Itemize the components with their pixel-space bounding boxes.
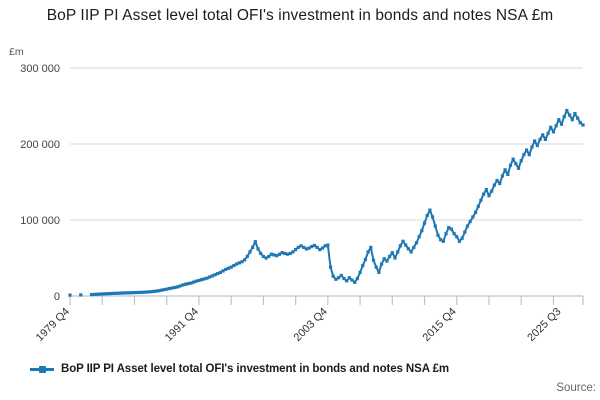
- x-axis-tick-label: 2015 Q4: [421, 306, 459, 344]
- chart-container: BoP IIP PI Asset level total OFI's inves…: [0, 0, 600, 400]
- x-axis-tick-label: 1979 Q4: [34, 306, 72, 344]
- y-axis-tick-label: 0: [54, 291, 60, 303]
- legend-label: BoP IIP PI Asset level total OFI's inves…: [61, 363, 449, 375]
- x-axis-tick-labels: 1979 Q41991 Q42003 Q42015 Q42025 Q3: [34, 306, 564, 344]
- chart-legend: BoP IIP PI Asset level total OFI's inves…: [30, 363, 449, 375]
- source-note: Source:: [556, 382, 596, 394]
- gridlines: [70, 68, 583, 220]
- x-axis-tick-label: 1991 Q4: [163, 306, 201, 344]
- x-axis-tick-label: 2025 Q3: [525, 306, 563, 344]
- x-axis: [70, 296, 583, 305]
- y-axis-tick-label: 200 000: [20, 139, 60, 151]
- y-axis-tick-labels: 0100 000200 000300 000: [20, 63, 60, 303]
- y-axis-tick-label: 100 000: [20, 215, 60, 227]
- legend-line-marker-icon: [30, 363, 54, 375]
- x-axis-tick-label: 2003 Q4: [292, 306, 330, 344]
- chart-plot-area: 0100 000200 000300 000 1979 Q41991 Q4200…: [0, 0, 600, 360]
- data-series-line: [68, 109, 584, 297]
- y-axis-tick-label: 300 000: [20, 63, 60, 75]
